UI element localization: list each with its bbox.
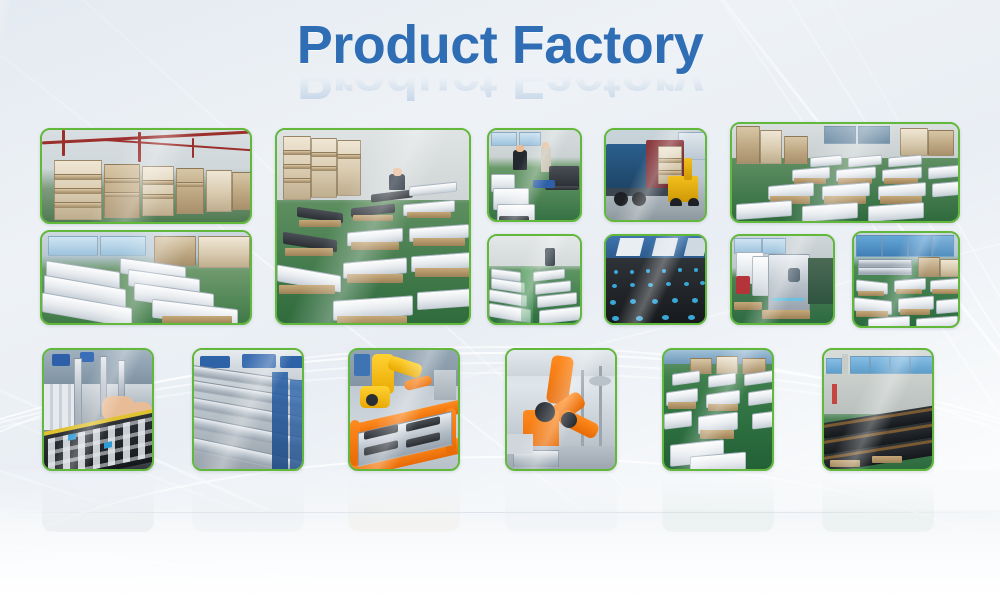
photo-tile-packed-cartons[interactable] bbox=[662, 348, 774, 471]
photo-tile-storage-cabinets[interactable] bbox=[730, 234, 835, 325]
photo-tile-dispatch-warehouse[interactable] bbox=[730, 122, 960, 223]
photo-tile-production-line[interactable] bbox=[487, 234, 582, 325]
tile-reflection-3 bbox=[348, 474, 460, 532]
photo-dispatch-warehouse bbox=[732, 124, 958, 221]
tile-reflection-5 bbox=[662, 474, 774, 532]
photo-tile-orange-robot[interactable] bbox=[505, 348, 617, 471]
photo-warehouse-aisle bbox=[277, 130, 469, 323]
page-title-reflection: Product Factory bbox=[0, 73, 1000, 107]
photo-tile-crates-warehouse[interactable] bbox=[40, 128, 252, 224]
photo-yellow-robot bbox=[350, 350, 458, 469]
photo-battery-cells bbox=[606, 236, 705, 323]
tile-reflection-2 bbox=[192, 474, 304, 532]
photo-production-line bbox=[489, 236, 580, 323]
diagonal-streak-12 bbox=[0, 520, 1000, 600]
photo-modules-windows bbox=[854, 233, 958, 326]
tile-reflection-1 bbox=[42, 474, 154, 532]
photo-tile-white-units-storage[interactable] bbox=[40, 230, 252, 325]
photo-tile-modules-windows[interactable] bbox=[852, 231, 960, 328]
photo-orange-robot bbox=[507, 350, 615, 469]
photo-tile-assembly-packing[interactable] bbox=[487, 128, 582, 222]
photo-assembly-packing bbox=[489, 130, 580, 220]
photo-crates-warehouse bbox=[42, 130, 250, 222]
page-title: Product Factory bbox=[0, 18, 1000, 72]
title-block: Product Factory Product Factory bbox=[0, 18, 1000, 107]
photo-tile-battery-cells[interactable] bbox=[604, 234, 707, 325]
photo-hand-assembly bbox=[44, 350, 152, 469]
photo-metal-racks bbox=[194, 350, 302, 469]
photo-white-units-storage bbox=[42, 232, 250, 323]
photo-tile-battery-racks-hall[interactable] bbox=[822, 348, 934, 471]
diagonal-streak-13 bbox=[0, 548, 1000, 600]
photo-tile-hand-assembly[interactable] bbox=[42, 348, 154, 471]
photo-tile-container-loading[interactable] bbox=[604, 128, 707, 222]
photo-storage-cabinets bbox=[732, 236, 833, 323]
photo-battery-racks-hall bbox=[824, 350, 932, 469]
photo-packed-cartons bbox=[664, 350, 772, 469]
product-factory-banner: Product Factory Product Factory bbox=[0, 0, 1000, 600]
photo-tile-metal-racks[interactable] bbox=[192, 348, 304, 471]
photo-tile-warehouse-aisle[interactable] bbox=[275, 128, 471, 325]
tile-reflection-4 bbox=[505, 474, 617, 532]
photo-tile-yellow-robot[interactable] bbox=[348, 348, 460, 471]
tile-reflection-6 bbox=[822, 474, 934, 532]
photo-container-loading bbox=[606, 130, 705, 220]
